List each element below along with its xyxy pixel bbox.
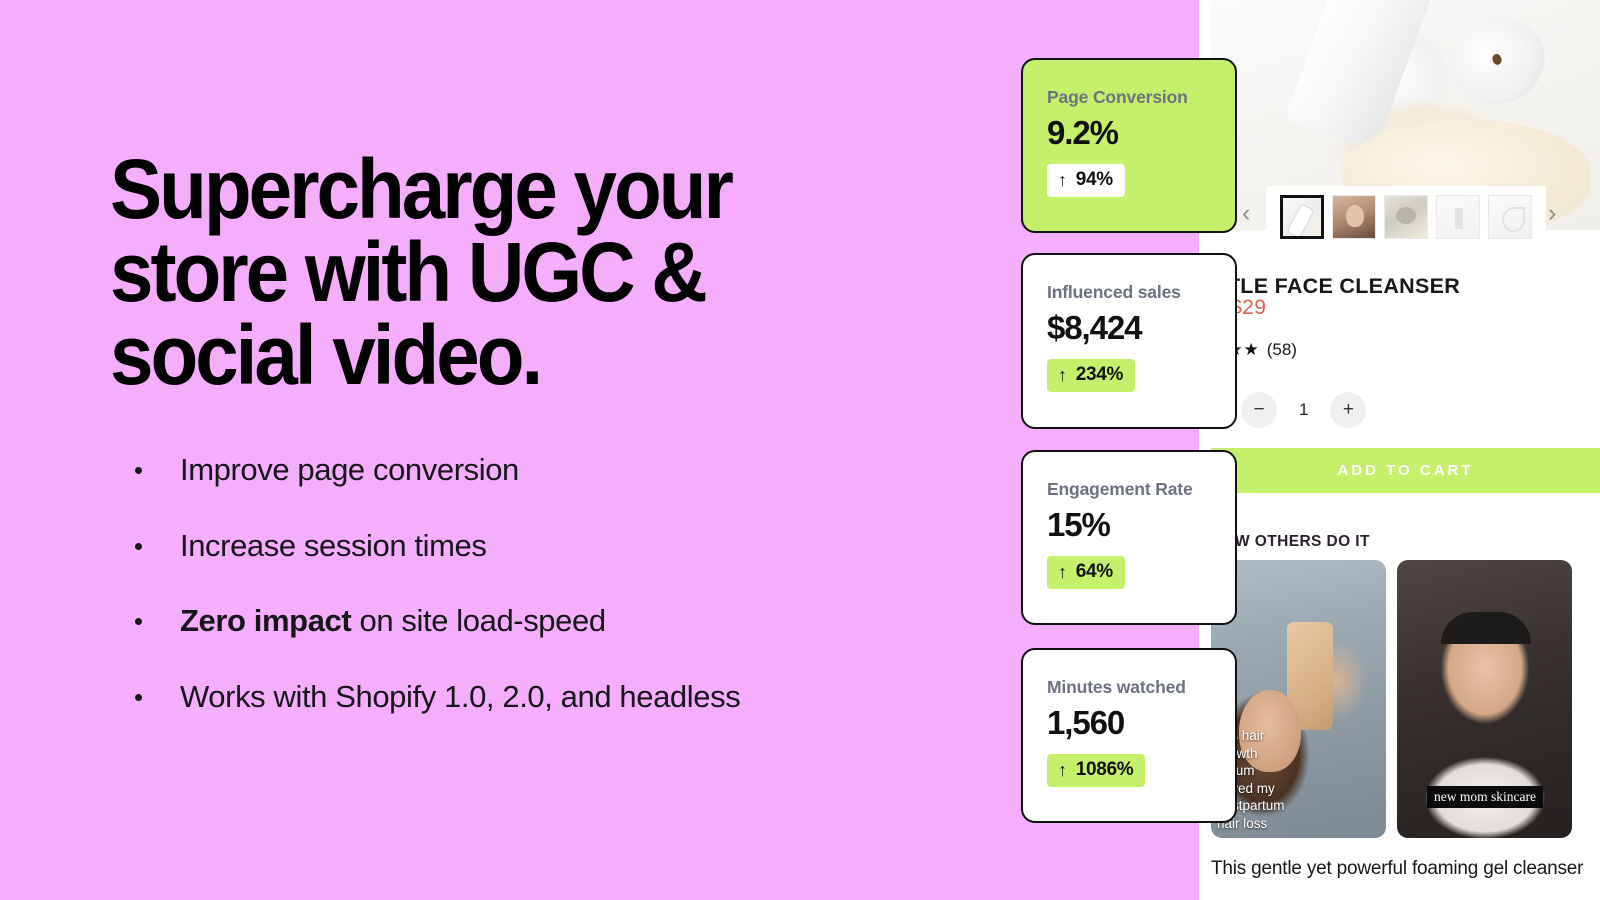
bullet-dot-icon bbox=[135, 694, 142, 701]
stat-label: Page Conversion bbox=[1047, 87, 1211, 108]
list-item: Zero impact on site load-speed bbox=[128, 603, 958, 639]
bullet-text: on site load-speed bbox=[351, 603, 605, 638]
arrow-up-icon: ↑ bbox=[1058, 171, 1067, 189]
thumbnail-product-detail[interactable] bbox=[1488, 195, 1532, 239]
list-item: Works with Shopify 1.0, 2.0, and headles… bbox=[128, 679, 958, 715]
thumbnail-model-applying-cleanser[interactable] bbox=[1332, 195, 1376, 239]
thumbnail-product-tube[interactable] bbox=[1280, 195, 1324, 239]
page-title: Supercharge your store with UGC & social… bbox=[110, 148, 817, 397]
thumbnail-strip bbox=[1266, 186, 1546, 248]
arrow-up-icon: ↑ bbox=[1058, 366, 1067, 384]
stat-label: Minutes watched bbox=[1047, 677, 1211, 698]
stat-delta-value: 234% bbox=[1076, 364, 1123, 386]
ugc-video-grid: this hair growth serum saved my postpart… bbox=[1211, 560, 1600, 838]
bullet-text-bold: Zero impact bbox=[180, 603, 351, 638]
status-badge: ↑ 94% bbox=[1047, 164, 1125, 197]
bullet-dot-icon bbox=[135, 618, 142, 625]
stat-value: 9.2% bbox=[1047, 115, 1211, 151]
stat-value: $8,424 bbox=[1047, 310, 1211, 346]
bullet-dot-icon bbox=[135, 467, 142, 474]
bullet-dot-icon bbox=[135, 543, 142, 550]
thumbnail-texture-swatch[interactable] bbox=[1384, 195, 1428, 239]
status-badge: ↑ 234% bbox=[1047, 359, 1135, 392]
stat-card-minutes-watched: Minutes watched 1,560 ↑ 1086% bbox=[1021, 648, 1237, 823]
add-to-cart-button[interactable]: ADD TO CART bbox=[1211, 448, 1600, 493]
bullet-text: Works with Shopify 1.0, 2.0, and headles… bbox=[180, 679, 740, 714]
product-title: NTLE FACE CLEANSER bbox=[1211, 274, 1600, 299]
quantity-stepper[interactable]: − 1 + bbox=[1241, 392, 1366, 428]
arrow-up-icon: ↑ bbox=[1058, 563, 1067, 581]
stat-label: Engagement Rate bbox=[1047, 479, 1211, 500]
stat-card-engagement-rate: Engagement Rate 15% ↑ 64% bbox=[1021, 450, 1237, 625]
status-badge: ↑ 1086% bbox=[1047, 754, 1145, 787]
product-description: This gentle yet powerful foaming gel cle… bbox=[1211, 858, 1600, 880]
ugc-creator-headband bbox=[1441, 612, 1531, 644]
thumbnail-carousel bbox=[1211, 184, 1600, 250]
bullet-text: Increase session times bbox=[180, 528, 487, 563]
stat-delta-value: 64% bbox=[1076, 561, 1113, 583]
review-count: (58) bbox=[1267, 340, 1297, 360]
marketing-hero-panel: Supercharge your store with UGC & social… bbox=[0, 0, 1199, 900]
stat-card-influenced-sales: Influenced sales $8,424 ↑ 234% bbox=[1021, 253, 1237, 429]
quantity-value: 1 bbox=[1299, 400, 1308, 420]
thumbnail-tube-standing[interactable] bbox=[1436, 195, 1480, 239]
arrow-up-icon: ↑ bbox=[1058, 761, 1067, 779]
quantity-increment-button[interactable]: + bbox=[1330, 392, 1366, 428]
ugc-video-new-mom-skincare[interactable]: new mom skincare bbox=[1397, 560, 1572, 838]
quantity-decrement-button[interactable]: − bbox=[1241, 392, 1277, 428]
list-item: Improve page conversion bbox=[128, 452, 958, 488]
list-item: Increase session times bbox=[128, 528, 958, 564]
ugc-video-hair-growth-serum[interactable]: this hair growth serum saved my postpart… bbox=[1211, 560, 1386, 838]
stat-card-page-conversion: Page Conversion 9.2% ↑ 94% bbox=[1021, 58, 1237, 233]
product-detail-panel: ‹ › NTLE FACE CLEANSER $$29 ★★★ (58) − 1… bbox=[1211, 0, 1600, 900]
feature-bullet-list: Improve page conversion Increase session… bbox=[128, 452, 958, 715]
status-badge: ↑ 64% bbox=[1047, 556, 1125, 589]
stat-delta-value: 1086% bbox=[1076, 759, 1134, 781]
bullet-text: Improve page conversion bbox=[180, 452, 519, 487]
stat-delta-value: 94% bbox=[1076, 169, 1113, 191]
stat-value: 1,560 bbox=[1047, 705, 1211, 741]
stat-label: Influenced sales bbox=[1047, 282, 1211, 303]
stat-value: 15% bbox=[1047, 507, 1211, 543]
ugc-caption: new mom skincare bbox=[1427, 786, 1543, 808]
cleanser-cap-shape bbox=[1438, 5, 1556, 116]
